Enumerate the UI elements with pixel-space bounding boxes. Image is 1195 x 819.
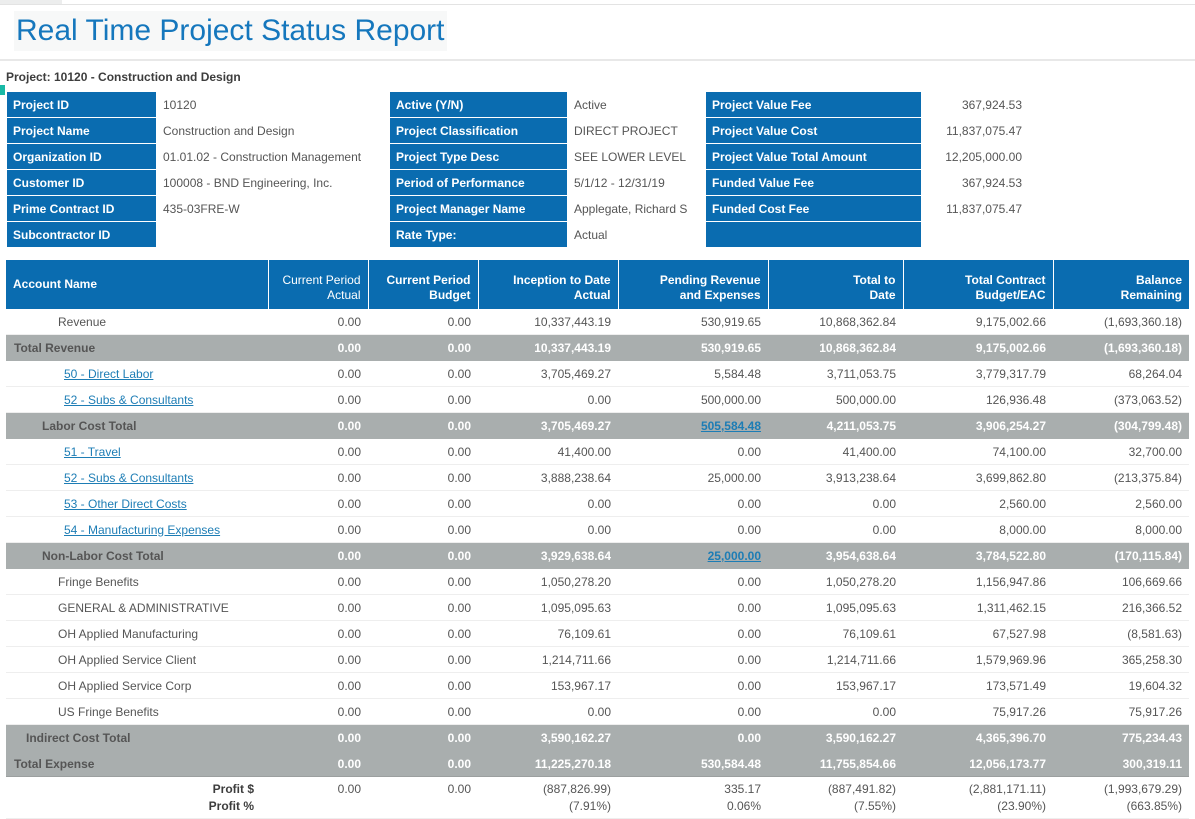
info-label: Active (Y/N) [390,92,568,118]
amount-cell: (304,799.48) [1053,413,1189,439]
info-value: 5/1/12 - 12/31/19 [568,170,706,196]
profit-amount-cell: (23.90%) [903,797,1053,819]
profit-label: Profit $ [6,777,268,798]
amount-cell: 0.00 [268,569,368,595]
info-label: Subcontractor ID [7,222,157,248]
amount-cell: 0.00 [268,699,368,725]
amount-cell: 0.00 [268,751,368,777]
amount-cell: 0.00 [618,621,768,647]
account-name-cell: Total Expense [6,751,268,777]
profit-amount-cell: (887,826.99) [478,777,618,798]
amount-cell: 0.00 [368,673,478,699]
amount-cell: 3,779,317.79 [903,361,1053,387]
amount-cell: 0.00 [368,517,478,543]
amount-cell: 530,584.48 [618,751,768,777]
profit-amount-cell: 0.00 [268,777,368,798]
amount-cell: 0.00 [478,387,618,413]
page-title: Real Time Project Status Report [14,11,447,51]
table-row: 53 - Other Direct Costs0.000.000.000.000… [6,491,1189,517]
info-label: Rate Type: [390,222,568,248]
account-link[interactable]: 52 - Subs & Consultants [64,471,193,485]
account-name-cell[interactable]: 51 - Travel [6,439,268,465]
amount-cell: 0.00 [368,309,478,335]
amount-cell: 0.00 [618,491,768,517]
amount-cell: 1,095,095.63 [478,595,618,621]
amount-cell: 530,919.65 [618,335,768,361]
amount-cell: 1,214,711.66 [768,647,903,673]
amount-cell: 0.00 [268,647,368,673]
amount-cell: 0.00 [368,491,478,517]
column-header-3[interactable]: Current PeriodBudget [368,260,478,309]
table-row: Indirect Cost Total0.000.003,590,162.270… [6,725,1189,751]
amount-cell: 75,917.26 [903,699,1053,725]
amount-cell: 0.00 [618,647,768,673]
accent-marker-icon [0,85,5,95]
account-name-cell: OH Applied Service Corp [6,673,268,699]
amount-cell: 41,400.00 [478,439,618,465]
account-link[interactable]: 51 - Travel [64,445,121,459]
amount-cell: 0.00 [268,725,368,751]
amount-cell: 0.00 [368,595,478,621]
amount-cell: 9,175,002.66 [903,335,1053,361]
window-top-strip-tab [0,0,62,4]
column-header-1[interactable]: Account Name [6,260,268,309]
financial-grid-panel: Account NameCurrent PeriodActualCurrent … [0,248,1195,819]
account-financial-table: Account NameCurrent PeriodActualCurrent … [6,260,1189,819]
amount-cell: 3,954,638.64 [768,543,903,569]
amount-cell: 216,366.52 [1053,595,1189,621]
account-name-cell: OH Applied Service Client [6,647,268,673]
amount-cell: 0.00 [368,569,478,595]
project-subtitle: Project: 10120 - Construction and Design [0,61,1195,91]
table-row: OH Applied Service Corp0.000.00153,967.1… [6,673,1189,699]
info-value: Construction and Design [157,118,390,144]
amount-cell: 3,929,638.64 [478,543,618,569]
amount-cell: 9,175,002.66 [903,309,1053,335]
account-name-cell[interactable]: 50 - Direct Labor [6,361,268,387]
account-name-cell: Non-Labor Cost Total [6,543,268,569]
amount-cell: 4,365,396.70 [903,725,1053,751]
info-label: Project Manager Name [390,196,568,222]
amount-cell: 11,225,270.18 [478,751,618,777]
project-info-row: Project NameConstruction and DesignProje… [7,118,1029,144]
profit-amount-cell: 335.17 [618,777,768,798]
amount-cell: (1,693,360.18) [1053,335,1189,361]
amount-cell: 0.00 [368,361,478,387]
amount-cell: 530,919.65 [618,309,768,335]
info-label: Project Classification [390,118,568,144]
project-info-table: Project ID10120Active (Y/N)ActiveProject… [6,91,1029,248]
account-name-cell: Fringe Benefits [6,569,268,595]
table-row: Labor Cost Total0.000.003,705,469.27505,… [6,413,1189,439]
column-header-7[interactable]: Total ContractBudget/EAC [903,260,1053,309]
amount-cell: 300,319.11 [1053,751,1189,777]
amount-cell: 0.00 [478,517,618,543]
amount-cell: 2,560.00 [1053,491,1189,517]
amount-cell: 3,888,238.64 [478,465,618,491]
column-header-4[interactable]: Inception to DateActual [478,260,618,309]
amount-cell: 4,211,053.75 [768,413,903,439]
info-value: 11,837,075.47 [922,118,1029,144]
info-value: 100008 - BND Engineering, Inc. [157,170,390,196]
amount-cell: 0.00 [268,465,368,491]
info-label: Project Value Cost [706,118,922,144]
info-value: Active [568,92,706,118]
amount-cell: 3,590,162.27 [478,725,618,751]
table-row: US Fringe Benefits0.000.000.000.000.0075… [6,699,1189,725]
amount-cell: 0.00 [618,517,768,543]
account-link[interactable]: 53 - Other Direct Costs [64,497,187,511]
profit-amount-cell [268,797,368,819]
account-name-cell: Indirect Cost Total [6,725,268,751]
amount-cell: 3,699,862.80 [903,465,1053,491]
amount-cell: 3,906,254.27 [903,413,1053,439]
report-title-bar: Real Time Project Status Report [0,5,1195,61]
info-value: Applegate, Richard S [568,196,706,222]
amount-cell: 0.00 [618,725,768,751]
amount-cell: 8,000.00 [1053,517,1189,543]
amount-cell: 0.00 [618,699,768,725]
amount-cell: 11,755,854.66 [768,751,903,777]
table-row: Non-Labor Cost Total0.000.003,929,638.64… [6,543,1189,569]
amount-cell: 0.00 [478,699,618,725]
amount-cell: 0.00 [268,595,368,621]
project-info-row: Project ID10120Active (Y/N)ActiveProject… [7,92,1029,118]
project-info-panel: Project ID10120Active (Y/N)ActiveProject… [0,91,1195,248]
info-label: Organization ID [7,144,157,170]
account-name-cell[interactable]: 54 - Manufacturing Expenses [6,517,268,543]
profit-amount-cell: (1,993,679.29) [1053,777,1189,798]
amount-cell: 10,337,443.19 [478,335,618,361]
amount-cell: 153,967.17 [768,673,903,699]
amount-cell: 500,000.00 [768,387,903,413]
info-value: 01.01.02 - Construction Management [157,144,390,170]
info-label: Project Value Total Amount [706,144,922,170]
profit-amount-cell: (663.85%) [1053,797,1189,819]
amount-cell: 0.00 [268,439,368,465]
amount-cell: 76,109.61 [478,621,618,647]
amount-cell: 75,917.26 [1053,699,1189,725]
project-info-row: Subcontractor IDRate Type:Actual [7,222,1029,248]
account-name-cell: US Fringe Benefits [6,699,268,725]
table-row: 51 - Travel0.000.0041,400.000.0041,400.0… [6,439,1189,465]
amount-cell: 1,095,095.63 [768,595,903,621]
amount-cell: 0.00 [478,491,618,517]
amount-cell: 0.00 [268,517,368,543]
info-label: Funded Cost Fee [706,196,922,222]
amount-cell: 0.00 [268,309,368,335]
amount-cell: 0.00 [268,491,368,517]
amount-cell: (8,581.63) [1053,621,1189,647]
info-value: DIRECT PROJECT [568,118,706,144]
account-link[interactable]: 54 - Manufacturing Expenses [64,523,220,537]
project-info-row: Organization ID01.01.02 - Construction M… [7,144,1029,170]
amount-cell: 3,705,469.27 [478,361,618,387]
amount-cell[interactable]: 25,000.00 [618,543,768,569]
amount-cell: 3,913,238.64 [768,465,903,491]
profit-amount-cell: 0.00 [368,777,478,798]
info-label: Project Value Fee [706,92,922,118]
amount-cell: 0.00 [368,647,478,673]
amount-cell: 0.00 [368,725,478,751]
amount-cell: 1,214,711.66 [478,647,618,673]
amount-cell: 0.00 [368,335,478,361]
amount-cell: 0.00 [768,491,903,517]
account-name-cell: Labor Cost Total [6,413,268,439]
amount-cell: 1,050,278.20 [478,569,618,595]
amount-cell: 3,711,053.75 [768,361,903,387]
table-row: Revenue0.000.0010,337,443.19530,919.6510… [6,309,1189,335]
column-header-8[interactable]: BalanceRemaining [1053,260,1189,309]
account-link[interactable]: 52 - Subs & Consultants [64,393,193,407]
table-header-row: Account NameCurrent PeriodActualCurrent … [6,260,1189,309]
amount-cell: 2,560.00 [903,491,1053,517]
amount-cell: 0.00 [268,387,368,413]
amount-cell: 8,000.00 [903,517,1053,543]
amount-cell: 775,234.43 [1053,725,1189,751]
account-name-cell[interactable]: 52 - Subs & Consultants [6,387,268,413]
info-value: SEE LOWER LEVEL [568,144,706,170]
amount-cell: 1,050,278.20 [768,569,903,595]
project-info-row: Prime Contract ID435-03FRE-WProject Mana… [7,196,1029,222]
amount-cell: 3,590,162.27 [768,725,903,751]
amount-cell: 0.00 [368,699,478,725]
account-name-cell: Total Revenue [6,335,268,361]
amount-cell: 10,337,443.19 [478,309,618,335]
amount-link[interactable]: 505,584.48 [701,419,761,433]
amount-cell: 500,000.00 [618,387,768,413]
amount-cell: 10,868,362.84 [768,335,903,361]
info-value: 12,205,000.00 [922,144,1029,170]
amount-cell: 126,936.48 [903,387,1053,413]
amount-cell: 0.00 [368,465,478,491]
info-label: Project Name [7,118,157,144]
table-row: GENERAL & ADMINISTRATIVE0.000.001,095,09… [6,595,1189,621]
account-name-cell: GENERAL & ADMINISTRATIVE [6,595,268,621]
amount-cell: 12,056,173.77 [903,751,1053,777]
amount-cell: 0.00 [618,569,768,595]
amount-cell: 3,705,469.27 [478,413,618,439]
amount-cell: 0.00 [268,673,368,699]
amount-cell: 0.00 [768,517,903,543]
amount-cell: 1,311,462.15 [903,595,1053,621]
project-info-row: Customer ID100008 - BND Engineering, Inc… [7,170,1029,196]
account-name-cell: OH Applied Manufacturing [6,621,268,647]
amount-cell[interactable]: 505,584.48 [618,413,768,439]
info-value: 367,924.53 [922,170,1029,196]
amount-cell: 0.00 [368,751,478,777]
info-value: 10120 [157,92,390,118]
table-row: 54 - Manufacturing Expenses0.000.000.000… [6,517,1189,543]
amount-cell: 0.00 [368,387,478,413]
table-row: OH Applied Manufacturing0.000.0076,109.6… [6,621,1189,647]
table-row: Fringe Benefits0.000.001,050,278.200.001… [6,569,1189,595]
amount-cell: 0.00 [618,439,768,465]
account-name-cell: Revenue [6,309,268,335]
info-label: Period of Performance [390,170,568,196]
amount-cell: 0.00 [368,439,478,465]
amount-cell: 32,700.00 [1053,439,1189,465]
amount-cell: 1,579,969.96 [903,647,1053,673]
info-value: 435-03FRE-W [157,196,390,222]
amount-cell: 0.00 [368,621,478,647]
amount-cell: 0.00 [368,413,478,439]
amount-cell: (373,063.52) [1053,387,1189,413]
amount-cell: 0.00 [268,413,368,439]
amount-cell: 0.00 [268,543,368,569]
info-value [157,222,390,248]
info-value [922,222,1029,248]
info-value: Actual [568,222,706,248]
table-row: 52 - Subs & Consultants0.000.000.00500,0… [6,387,1189,413]
amount-cell: 173,571.49 [903,673,1053,699]
account-name-cell[interactable]: 52 - Subs & Consultants [6,465,268,491]
amount-cell: 1,156,947.86 [903,569,1053,595]
amount-cell: 106,669.66 [1053,569,1189,595]
amount-cell: 5,584.48 [618,361,768,387]
amount-cell: 0.00 [268,361,368,387]
info-value: 367,924.53 [922,92,1029,118]
info-label: Project Type Desc [390,144,568,170]
profit-row: Profit %(7.91%)0.06%(7.55%)(23.90%)(663.… [6,797,1189,819]
amount-cell: 153,967.17 [478,673,618,699]
amount-cell: 365,258.30 [1053,647,1189,673]
profit-label: Profit % [6,797,268,819]
amount-cell: 0.00 [268,335,368,361]
table-row: Total Revenue0.000.0010,337,443.19530,91… [6,335,1189,361]
amount-cell: 0.00 [368,543,478,569]
profit-row: Profit $0.000.00(887,826.99)335.17(887,4… [6,777,1189,798]
profit-amount-cell [368,797,478,819]
amount-cell: 0.00 [618,595,768,621]
amount-cell: 0.00 [768,699,903,725]
column-header-6[interactable]: Total toDate [768,260,903,309]
profit-amount-cell: (7.91%) [478,797,618,819]
amount-cell: 3,784,522.80 [903,543,1053,569]
info-label: Customer ID [7,170,157,196]
info-label: Prime Contract ID [7,196,157,222]
amount-cell: (213,375.84) [1053,465,1189,491]
amount-cell: (170,115.84) [1053,543,1189,569]
profit-amount-cell: (2,881,171.11) [903,777,1053,798]
account-link[interactable]: 50 - Direct Labor [64,367,153,381]
table-row: OH Applied Service Client0.000.001,214,7… [6,647,1189,673]
table-row: 50 - Direct Labor0.000.003,705,469.275,5… [6,361,1189,387]
table-row: Total Expense0.000.0011,225,270.18530,58… [6,751,1189,777]
amount-cell: 74,100.00 [903,439,1053,465]
amount-link[interactable]: 25,000.00 [708,549,761,563]
profit-amount-cell: (887,491.82) [768,777,903,798]
table-row: 52 - Subs & Consultants0.000.003,888,238… [6,465,1189,491]
amount-cell: 10,868,362.84 [768,309,903,335]
info-label: Funded Value Fee [706,170,922,196]
amount-cell: 76,109.61 [768,621,903,647]
amount-cell: 19,604.32 [1053,673,1189,699]
amount-cell: (1,693,360.18) [1053,309,1189,335]
amount-cell: 25,000.00 [618,465,768,491]
column-header-5[interactable]: Pending Revenueand Expenses [618,260,768,309]
amount-cell: 0.00 [268,621,368,647]
info-value: 11,837,075.47 [922,196,1029,222]
amount-cell: 0.00 [618,673,768,699]
amount-cell: 67,527.98 [903,621,1053,647]
profit-amount-cell: 0.06% [618,797,768,819]
info-label [706,222,922,248]
column-header-2[interactable]: Current PeriodActual [268,260,368,309]
amount-cell: 41,400.00 [768,439,903,465]
account-name-cell[interactable]: 53 - Other Direct Costs [6,491,268,517]
info-label: Project ID [7,92,157,118]
amount-cell: 68,264.04 [1053,361,1189,387]
profit-amount-cell: (7.55%) [768,797,903,819]
